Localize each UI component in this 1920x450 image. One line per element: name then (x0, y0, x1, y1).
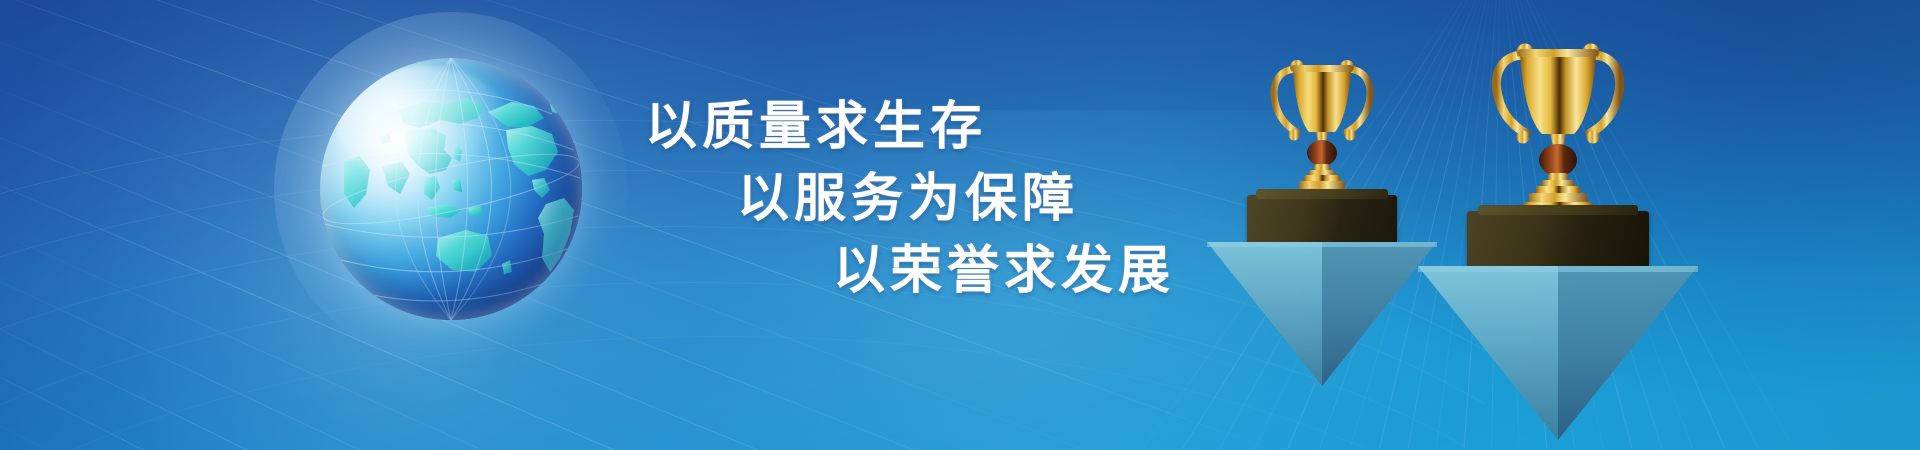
trophy-cup-small (1257, 40, 1387, 205)
globe-illustration (320, 58, 582, 320)
pedestal-cone-small (1207, 240, 1437, 388)
globe-rim-light (320, 58, 582, 320)
trophy-knob-small (1307, 140, 1337, 166)
promo-banner: 以质量求生存 以服务为保障 以荣誉求发展 (0, 0, 1920, 450)
pedestal-cone-large (1418, 264, 1698, 442)
trophy-bowl-large (1520, 53, 1596, 134)
globe-sphere (320, 58, 582, 320)
trophy-knob-large (1539, 144, 1577, 176)
trophy-plinth-large (1467, 211, 1649, 271)
trophy-cup-large (1478, 22, 1638, 222)
trophy-bowl-small (1293, 68, 1351, 132)
